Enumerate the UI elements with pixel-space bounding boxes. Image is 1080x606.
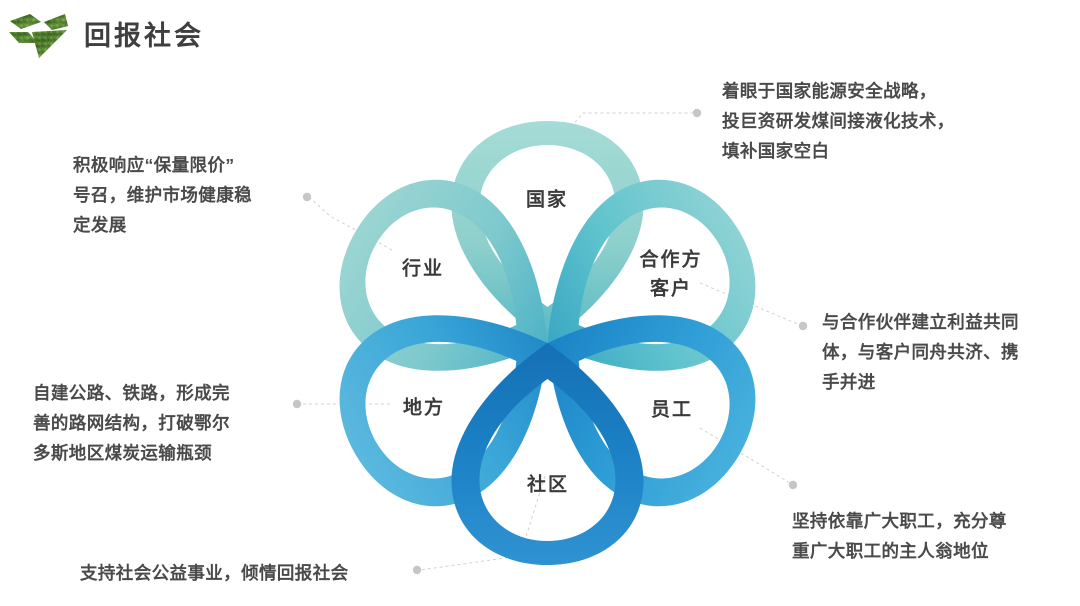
callout-partner: 与合作伙伴建立利益共同 体，与客户同舟共济、携 手并进 [822, 307, 1072, 397]
green-diamond-logo-icon [8, 12, 70, 60]
connector-dot [799, 322, 807, 330]
six-petal-flower-diagram: 国家 合作方 客户 员工 社区 地方 行业 [300, 95, 795, 565]
page-header: 回报社会 [8, 12, 204, 60]
petal-country [452, 121, 644, 343]
petal-label-industry: 行业 [402, 254, 444, 283]
petal-label-country: 国家 [526, 185, 568, 214]
callout-community: 支持社会公益事业，倾情回报社会 [80, 558, 480, 588]
page-title: 回报社会 [84, 23, 204, 50]
petal-label-local: 地方 [403, 393, 445, 422]
callout-employee: 坚持依靠广大职工，充分尊 重广大职工的主人翁地位 [792, 506, 1072, 566]
petal-label-community: 社区 [527, 470, 569, 499]
callout-country: 着眼于国家能源安全战略， 投巨资研发煤间接液化技术， 填补国家空白 [722, 76, 1022, 166]
petal-label-employee: 员工 [651, 395, 693, 424]
petal-label-partner: 合作方 客户 [639, 246, 702, 305]
petal-community [452, 343, 644, 565]
callout-local: 自建公路、铁路，形成完 善的路网结构，打破鄂尔 多斯地区煤炭运输瓶颈 [33, 378, 303, 468]
callout-industry: 积极响应“保量限价” 号召，维护市场健康稳 定发展 [73, 150, 323, 240]
